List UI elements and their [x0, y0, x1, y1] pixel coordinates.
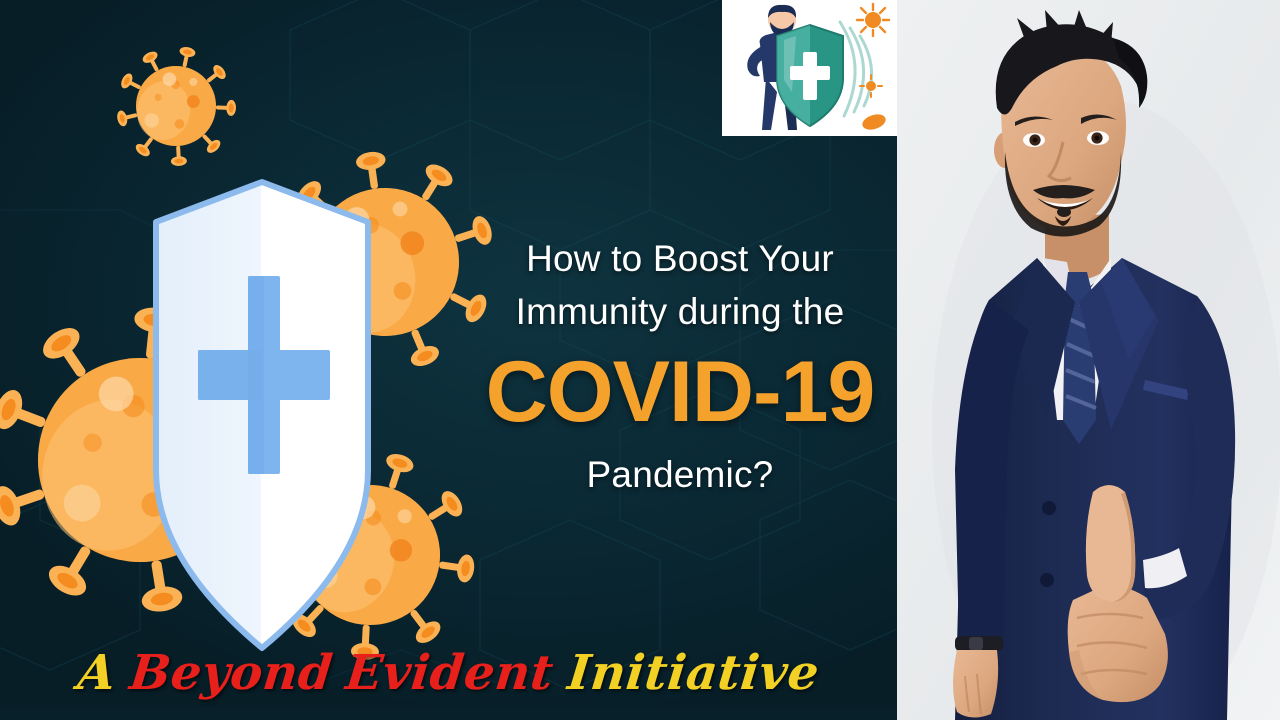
- presenter-photo: [897, 0, 1280, 720]
- brand-logo: [722, 0, 899, 136]
- banner-word-beyond: Beyond: [127, 645, 335, 701]
- headline-covid-19: COVID-19: [470, 340, 890, 444]
- headline-block: How to Boost Your Immunity during the CO…: [470, 232, 890, 501]
- headline-pandemic: Pandemic?: [470, 448, 890, 501]
- headline-line-1: How to Boost Your: [470, 232, 890, 285]
- banner-word-a: A: [75, 645, 119, 701]
- man-with-shield-icon: [722, 0, 899, 136]
- headline-line-2: Immunity during the: [470, 285, 890, 338]
- video-thumbnail: How to Boost Your Immunity during the CO…: [0, 0, 1280, 720]
- banner-word-evident: Evident: [344, 645, 557, 701]
- banner-word-initiative: Initiative: [565, 645, 822, 701]
- initiative-banner: A Beyond Evident Initiative: [0, 640, 897, 706]
- bottom-strip: [0, 707, 897, 720]
- man-portrait-illustration: [897, 0, 1280, 720]
